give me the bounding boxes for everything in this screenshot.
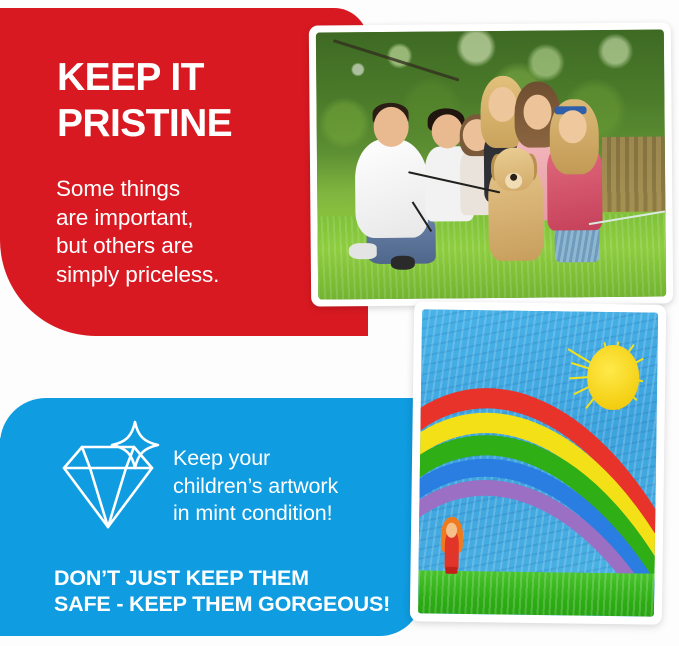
artwork-girl-legs bbox=[446, 566, 458, 573]
blue-body-text: Keep your children’s artwork in mint con… bbox=[173, 445, 338, 528]
red-heading: KEEP IT PRISTINE bbox=[57, 55, 232, 147]
childs-shoe bbox=[391, 256, 415, 270]
promo-banner: KEEP IT PRISTINE Some things are importa… bbox=[0, 0, 679, 646]
childrens-artwork-image bbox=[418, 309, 658, 616]
youngest-girl-head bbox=[558, 110, 586, 144]
diamond-pavilion-left bbox=[90, 468, 108, 527]
diamond-icon-svg bbox=[53, 416, 168, 534]
blue-body-line2: children’s artwork bbox=[173, 473, 338, 501]
red-body-line4: simply priceless. bbox=[56, 261, 219, 290]
red-heading-line2: PRISTINE bbox=[57, 101, 232, 147]
diamond-facet-left bbox=[82, 447, 90, 468]
blue-headline-line2: SAFE - KEEP THEM GORGEOUS! bbox=[54, 591, 390, 617]
blue-body-line3: in mint condition! bbox=[173, 500, 338, 528]
father-head bbox=[374, 106, 409, 146]
father-shoe bbox=[349, 243, 377, 259]
red-body-line2: are important, bbox=[56, 204, 219, 233]
teen-girl-head bbox=[489, 87, 517, 122]
family-photo-image bbox=[316, 29, 666, 299]
sparkle-star-icon bbox=[112, 422, 158, 468]
mother-head bbox=[523, 95, 551, 130]
diamond-pavilion-right bbox=[108, 468, 126, 527]
red-heading-line1: KEEP IT bbox=[57, 56, 204, 99]
childrens-artwork-card bbox=[410, 301, 666, 624]
blue-body-line1: Keep your bbox=[173, 445, 338, 473]
red-body-line1: Some things bbox=[56, 175, 219, 204]
red-body-text: Some things are important, but others ar… bbox=[56, 175, 219, 289]
artwork-grass bbox=[418, 571, 655, 617]
diamond-sparkle-icon bbox=[53, 416, 168, 534]
father-shirt bbox=[355, 138, 429, 237]
family-photo-card bbox=[309, 22, 673, 306]
wooden-fence bbox=[602, 136, 665, 211]
blue-headline: DON’T JUST KEEP THEM SAFE - KEEP THEM GO… bbox=[54, 565, 390, 617]
red-body-line3: but others are bbox=[56, 232, 219, 261]
blue-headline-line1: DON’T JUST KEEP THEM bbox=[54, 565, 390, 591]
